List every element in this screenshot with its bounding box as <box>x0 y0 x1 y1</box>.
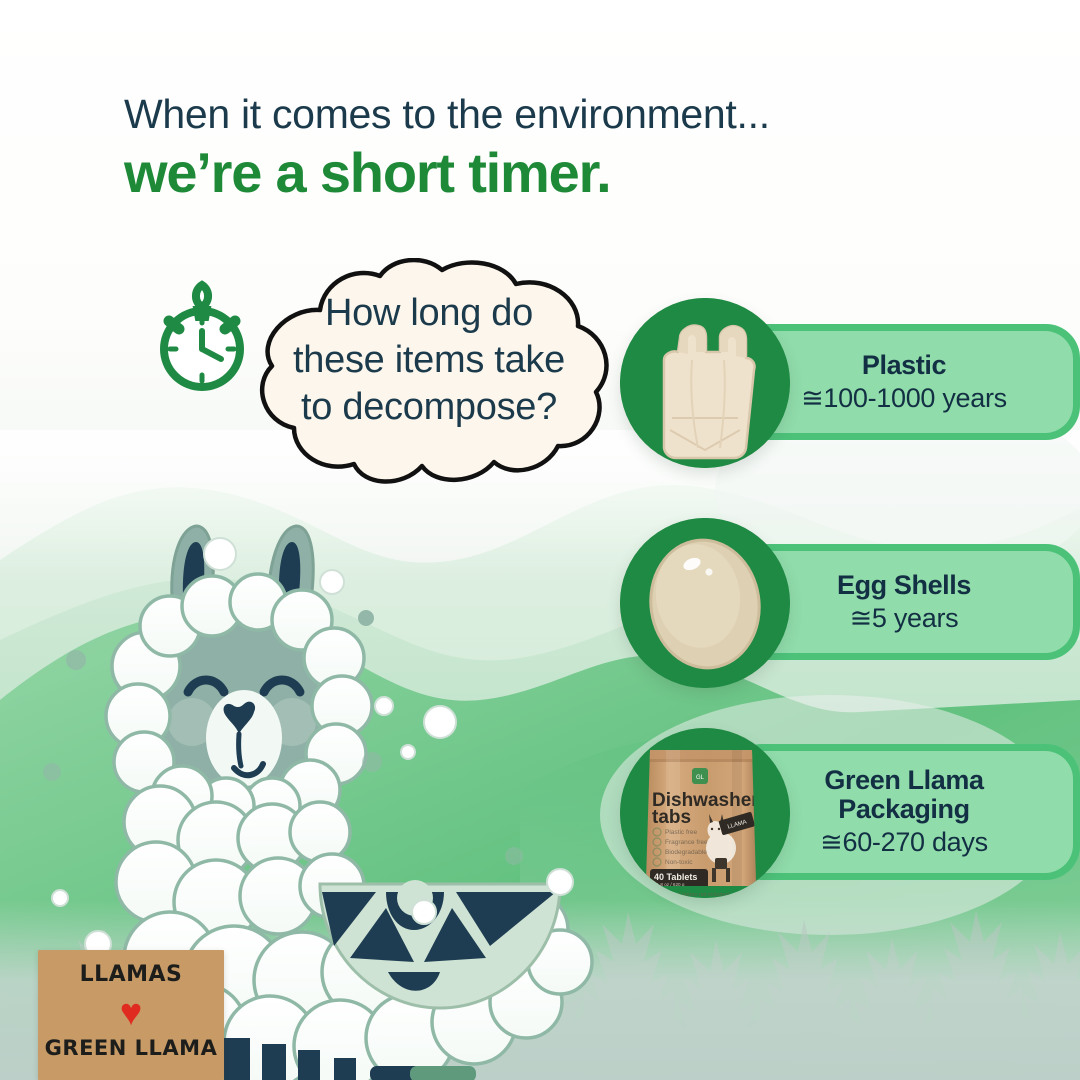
svg-text:Non-toxic: Non-toxic <box>665 859 693 866</box>
package-count: 40 Tablets <box>654 872 697 882</box>
sign-top-text: LLAMAS <box>38 962 224 987</box>
headline-line-1: When it comes to the environment... <box>124 92 884 138</box>
headline-block: When it comes to the environment... we’r… <box>124 92 884 205</box>
bubble-line-3: to decompose? <box>248 384 610 431</box>
svg-text:Biodegradable: Biodegradable <box>665 849 707 856</box>
dishwasher-tabs-pouch-icon: GL Dishwasher tabs Plastic free Fragranc… <box>620 728 790 898</box>
plastic-bag-icon <box>620 298 790 468</box>
bubble-line-2: these items take <box>248 337 610 384</box>
svg-text:GL: GL <box>696 775 705 781</box>
headline-line-2: we’re a short timer. <box>124 142 884 205</box>
item-title-egg-shells: Egg Shells <box>837 571 971 600</box>
infographic-canvas: When it comes to the environment... we’r… <box>0 0 1080 1080</box>
item-row-egg-shells[interactable]: Egg Shells ≅5 years <box>620 516 1080 696</box>
svg-text:Fragrance free: Fragrance free <box>665 839 708 846</box>
llamas-love-green-llama-sign: LLAMAS ♥ GREEN LLAMA <box>38 950 224 1080</box>
item-title-plastic: Plastic <box>862 351 946 380</box>
heart-icon: ♥ <box>38 994 224 1032</box>
bubble-line-1: How long do <box>248 290 610 337</box>
svg-text:Plastic free: Plastic free <box>665 829 698 836</box>
item-title-packaging-line-2: Packaging <box>838 795 969 824</box>
item-duration-plastic: ≅100-1000 years <box>801 383 1007 413</box>
item-row-green-llama-packaging[interactable]: Green Llama Packaging ≅60-270 days <box>620 726 1080 906</box>
package-footnote: Llamas not included <box>679 892 729 898</box>
package-product-line-2: tabs <box>652 807 691 828</box>
sign-bottom-text: GREEN LLAMA <box>38 1036 224 1060</box>
item-duration-packaging: ≅60-270 days <box>820 827 988 857</box>
item-duration-egg-shells: ≅5 years <box>850 603 959 633</box>
thought-cloud-text: How long do these items take to decompos… <box>248 290 610 431</box>
egg-icon <box>620 518 790 688</box>
item-title-packaging-line-1: Green Llama <box>824 766 983 795</box>
item-row-plastic[interactable]: Plastic ≅100-1000 years <box>620 296 1080 476</box>
